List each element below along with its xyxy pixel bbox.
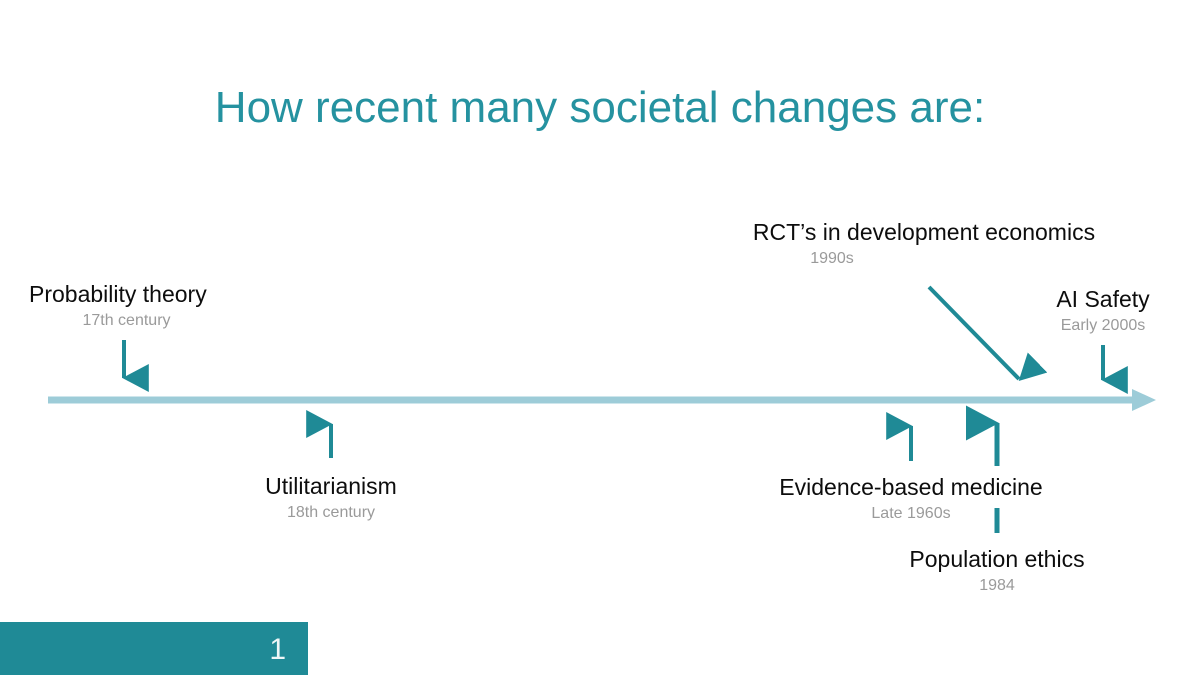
footer-band: 1 (0, 622, 308, 675)
page-number: 1 (269, 632, 286, 668)
event-date: 1984 (847, 575, 1147, 597)
event-title: AI Safety (1003, 285, 1200, 314)
event-utilitarianism: Utilitarianism 18th century (181, 472, 481, 524)
event-ai-safety: AI Safety Early 2000s (1003, 285, 1200, 337)
event-title: Evidence-based medicine (761, 473, 1061, 502)
event-date: 18th century (181, 502, 481, 524)
event-title: RCT’s in development economics (736, 218, 1112, 247)
event-population-ethics: Population ethics 1984 (847, 545, 1147, 597)
timeline-axis (48, 386, 1156, 414)
event-title: Utilitarianism (181, 472, 481, 501)
event-title: Population ethics (847, 545, 1147, 574)
event-evidence-based-medicine: Evidence-based medicine Late 1960s (761, 473, 1061, 525)
event-rcts-development-economics: RCT’s in development economics 1990s (736, 218, 1112, 270)
timeline-axis-arrow-icon (48, 386, 1156, 414)
page-title: How recent many societal changes are: (0, 78, 1200, 138)
event-date: Late 1960s (761, 503, 1061, 525)
event-title: Probability theory (29, 280, 329, 309)
event-date: 1990s (736, 248, 928, 270)
slide-canvas: How recent many societal changes are: (0, 0, 1200, 675)
event-probability-theory: Probability theory 17th century (29, 280, 329, 332)
event-date: 17th century (29, 310, 224, 332)
event-date: Early 2000s (1003, 315, 1200, 337)
